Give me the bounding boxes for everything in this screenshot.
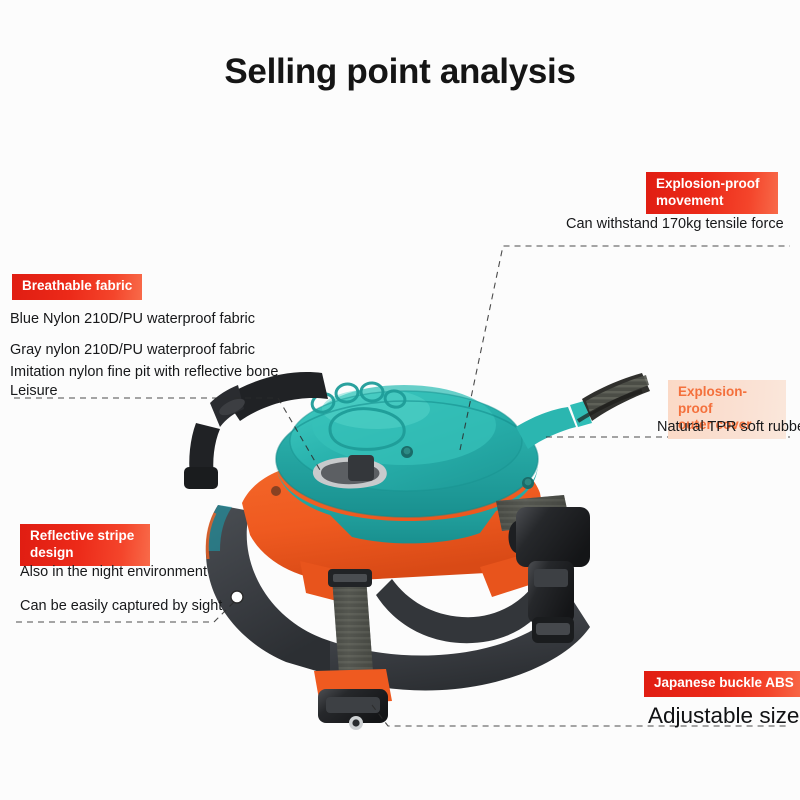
badge-line-1: Explosion-proof — [656, 176, 768, 193]
caption-breathable-fabric-3: Imitation nylon fine pit with reflective… — [10, 363, 290, 401]
bottom-buckle — [318, 689, 388, 730]
product-image — [180, 355, 650, 755]
caption-japanese-buckle-abs: Adjustable size — [648, 702, 799, 729]
badge-explosion-proof-movement[interactable]: Explosion-proof movement — [646, 172, 778, 214]
badge-breathable-fabric[interactable]: Breathable fabric — [12, 274, 142, 300]
caption-explosion-proof-outer-cover: Natural TPR soft rubber — [657, 418, 800, 437]
webbing-handle-strap — [516, 373, 650, 449]
badge-japanese-buckle-abs[interactable]: Japanese buckle ABS — [644, 671, 800, 697]
badge-line-1: Breathable fabric — [22, 278, 132, 295]
infographic-root: Selling point analysis — [0, 0, 800, 800]
caption-explosion-proof-movement: Can withstand 170kg tensile force — [566, 215, 784, 234]
caption-reflective-stripe-2: Can be easily captured by sight — [20, 597, 222, 616]
caption-breathable-fabric-1: Blue Nylon 210D/PU waterproof fabric — [10, 310, 255, 329]
badge-line-1: Japanese buckle ABS — [654, 675, 794, 692]
caption-breathable-fabric-2: Gray nylon 210D/PU waterproof fabric — [10, 341, 255, 360]
badge-line-1: Reflective stripe — [30, 528, 140, 545]
caption-reflective-stripe-1: Also in the night environment — [20, 563, 207, 582]
page-title: Selling point analysis — [0, 52, 800, 92]
badge-reflective-stripe-design[interactable]: Reflective stripe design — [20, 524, 150, 566]
badge-line-2: design — [30, 545, 140, 562]
badge-line-2: movement — [656, 193, 768, 210]
badge-line-1: Explosion-proof — [678, 384, 776, 417]
